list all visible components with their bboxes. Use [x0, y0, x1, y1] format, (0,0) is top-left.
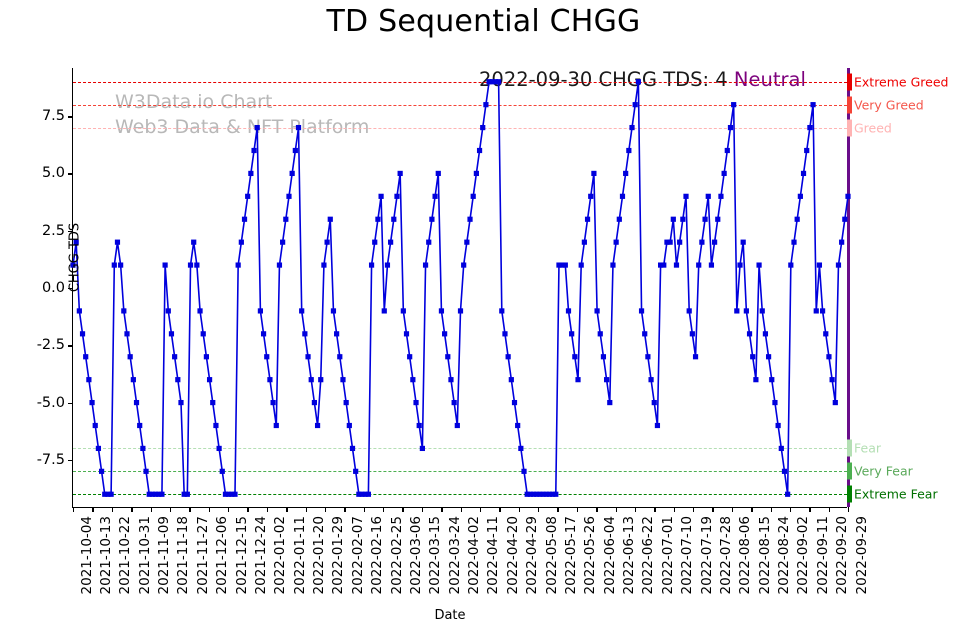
x-tick-label: 2022-04-20: [505, 516, 521, 594]
x-tick-label: 2022-08-06: [737, 516, 753, 594]
series-marker: [671, 217, 676, 222]
x-tick-label: 2021-11-09: [156, 516, 172, 594]
series-marker: [137, 423, 142, 428]
x-tick-mark: [848, 507, 849, 512]
series-marker: [325, 240, 330, 245]
series-marker: [639, 308, 644, 313]
series-marker: [188, 262, 193, 267]
series-marker: [582, 240, 587, 245]
series-marker: [80, 331, 85, 336]
series-marker: [833, 400, 838, 405]
series-marker: [207, 377, 212, 382]
series-marker: [648, 377, 653, 382]
series-marker: [845, 194, 850, 199]
series-marker: [623, 171, 628, 176]
series-marker: [617, 217, 622, 222]
series-marker: [817, 262, 822, 267]
series-marker: [420, 446, 425, 451]
series-marker: [636, 79, 641, 84]
y-tick-label: -5.0: [37, 395, 65, 411]
series-marker: [334, 331, 339, 336]
series-marker: [280, 240, 285, 245]
series-marker: [455, 423, 460, 428]
series-marker: [464, 240, 469, 245]
series-marker: [594, 308, 599, 313]
series-marker: [563, 262, 568, 267]
series-marker: [804, 148, 809, 153]
series-marker: [760, 308, 765, 313]
series-marker: [271, 400, 276, 405]
series-marker: [318, 377, 323, 382]
series-marker: [394, 194, 399, 199]
series-marker: [372, 240, 377, 245]
series-marker: [652, 400, 657, 405]
series-marker: [432, 194, 437, 199]
series-marker: [614, 240, 619, 245]
series-marker: [677, 240, 682, 245]
series-marker: [626, 148, 631, 153]
series-marker: [687, 308, 692, 313]
series-marker: [607, 400, 612, 405]
series-marker: [683, 194, 688, 199]
x-tick-label: 2021-11-18: [175, 516, 191, 594]
series-marker: [178, 400, 183, 405]
series-marker: [245, 194, 250, 199]
x-tick-label: 2021-12-06: [214, 516, 230, 594]
series-marker: [798, 194, 803, 199]
series-marker: [575, 377, 580, 382]
series-marker: [820, 308, 825, 313]
series-marker: [398, 171, 403, 176]
series-marker: [442, 331, 447, 336]
series-marker: [680, 217, 685, 222]
series-marker: [645, 354, 650, 359]
series-marker: [591, 171, 596, 176]
series-marker: [747, 331, 752, 336]
x-tick-label: 2022-02-16: [369, 516, 385, 594]
series-marker: [204, 354, 209, 359]
series-marker: [191, 240, 196, 245]
x-tick-label: 2022-03-15: [427, 516, 443, 594]
threshold-label-extreme-fear: Extreme Fear: [854, 487, 938, 502]
series-marker: [112, 262, 117, 267]
series-marker: [439, 308, 444, 313]
series-marker: [801, 171, 806, 176]
series-marker: [566, 308, 571, 313]
x-tick-label: 2022-06-22: [640, 516, 656, 594]
series-marker: [89, 400, 94, 405]
series-marker: [315, 423, 320, 428]
series-marker: [388, 240, 393, 245]
series-marker: [134, 400, 139, 405]
series-marker: [776, 423, 781, 428]
series-marker: [83, 354, 88, 359]
series-marker: [633, 102, 638, 107]
threshold-label-greed: Greed: [854, 120, 892, 135]
x-tick-label: 2022-08-15: [757, 516, 773, 594]
x-tick-label: 2021-12-15: [234, 516, 250, 594]
series-marker: [331, 308, 336, 313]
x-tick-label: 2021-10-31: [137, 516, 153, 594]
series-marker: [512, 400, 517, 405]
threshold-label-very-greed: Very Greed: [854, 97, 924, 112]
series-marker: [483, 102, 488, 107]
series-marker: [572, 354, 577, 359]
x-tick-label: 2021-10-13: [98, 516, 114, 594]
series-marker: [429, 217, 434, 222]
series-marker: [401, 308, 406, 313]
series-marker: [255, 125, 260, 130]
x-tick-label: 2022-09-29: [854, 516, 870, 594]
x-tick-label: 2022-09-20: [834, 516, 850, 594]
series-marker: [169, 331, 174, 336]
series-marker: [506, 354, 511, 359]
series-marker: [728, 125, 733, 130]
series-marker: [302, 331, 307, 336]
series-marker: [217, 446, 222, 451]
series-marker: [785, 492, 790, 497]
series-marker: [172, 354, 177, 359]
series-marker: [143, 469, 148, 474]
x-tick-label: 2022-01-29: [330, 516, 346, 594]
series-marker: [369, 262, 374, 267]
x-tick-label: 2021-10-22: [117, 516, 133, 594]
series-marker: [159, 492, 164, 497]
series-marker: [496, 79, 501, 84]
series-marker: [604, 377, 609, 382]
series-marker: [375, 217, 380, 222]
x-tick-label: 2022-04-11: [485, 516, 501, 594]
series-marker: [791, 240, 796, 245]
series-marker: [737, 262, 742, 267]
series-marker: [826, 354, 831, 359]
series-marker: [128, 354, 133, 359]
threshold-label-very-fear: Very Fear: [854, 464, 913, 479]
threshold-label-extreme-greed: Extreme Greed: [854, 74, 948, 89]
series-marker: [109, 492, 114, 497]
series-marker: [579, 262, 584, 267]
x-tick-label: 2022-01-02: [272, 516, 288, 594]
series-marker: [131, 377, 136, 382]
series-marker: [598, 331, 603, 336]
series-marker: [166, 308, 171, 313]
series-marker: [175, 377, 180, 382]
series-marker: [477, 148, 482, 153]
series-marker: [210, 400, 215, 405]
series-marker: [309, 377, 314, 382]
x-tick-label: 2022-01-20: [311, 516, 327, 594]
y-tick-label: 7.5: [42, 108, 65, 124]
series-marker: [423, 262, 428, 267]
y-tick-label: 2.5: [42, 223, 65, 239]
series-marker: [194, 262, 199, 267]
series-marker: [756, 262, 761, 267]
series-marker: [467, 217, 472, 222]
series-marker: [391, 217, 396, 222]
series-marker: [232, 492, 237, 497]
series-marker: [629, 125, 634, 130]
series-marker: [620, 194, 625, 199]
series-marker: [795, 217, 800, 222]
series-marker: [753, 377, 758, 382]
x-tick-label: 2022-07-01: [660, 516, 676, 594]
x-tick-label: 2022-09-11: [815, 516, 831, 594]
series-marker: [642, 331, 647, 336]
series-marker: [290, 171, 295, 176]
series-marker: [502, 331, 507, 336]
series-marker: [236, 262, 241, 267]
series-marker: [807, 125, 812, 130]
series-marker: [93, 423, 98, 428]
series-marker: [810, 102, 815, 107]
chart-page: TD Sequential CHGG W3Data.io Chart Web3 …: [0, 0, 967, 633]
series-marker: [750, 354, 755, 359]
series-marker: [293, 148, 298, 153]
series-marker: [458, 308, 463, 313]
series-marker: [267, 377, 272, 382]
series-marker: [814, 308, 819, 313]
series-marker: [261, 331, 266, 336]
series-marker: [569, 331, 574, 336]
series-marker: [518, 446, 523, 451]
x-tick-label: 2022-09-02: [795, 516, 811, 594]
series-marker: [763, 331, 768, 336]
series-marker: [515, 423, 520, 428]
series-marker: [782, 469, 787, 474]
x-tick-label: 2022-03-24: [447, 516, 463, 594]
x-tick-label: 2022-05-08: [544, 516, 560, 594]
series-marker: [601, 354, 606, 359]
series-marker: [185, 492, 190, 497]
series-marker: [283, 217, 288, 222]
x-tick-label: 2022-04-29: [524, 516, 540, 594]
series-marker: [96, 446, 101, 451]
series-marker: [404, 331, 409, 336]
x-tick-label: 2022-05-17: [563, 516, 579, 594]
series-marker: [725, 148, 730, 153]
series-marker: [353, 469, 358, 474]
series-marker: [86, 377, 91, 382]
series-marker: [585, 217, 590, 222]
x-tick-label: 2022-07-28: [718, 516, 734, 594]
series-marker: [712, 240, 717, 245]
series-marker: [264, 354, 269, 359]
series-marker: [448, 377, 453, 382]
series-marker: [258, 308, 263, 313]
x-tick-label: 2021-11-27: [195, 516, 211, 594]
series-marker: [445, 354, 450, 359]
series-marker: [823, 331, 828, 336]
series-marker: [350, 446, 355, 451]
x-tick-label: 2022-01-11: [292, 516, 308, 594]
series-marker: [251, 148, 256, 153]
series-marker: [163, 262, 168, 267]
series-marker: [718, 194, 723, 199]
series-marker: [115, 240, 120, 245]
series-marker: [312, 400, 317, 405]
series-marker: [340, 377, 345, 382]
series-marker: [407, 354, 412, 359]
series-marker: [674, 262, 679, 267]
y-tick-label: 0.0: [42, 280, 65, 296]
series-marker: [553, 492, 558, 497]
series-marker: [509, 377, 514, 382]
series-marker: [696, 262, 701, 267]
series-marker: [417, 423, 422, 428]
series-marker: [242, 217, 247, 222]
series-marker: [588, 194, 593, 199]
series-marker: [788, 262, 793, 267]
series-marker: [378, 194, 383, 199]
series-marker: [474, 171, 479, 176]
series-marker: [779, 446, 784, 451]
x-tick-label: 2022-07-19: [699, 516, 715, 594]
series-marker: [702, 217, 707, 222]
series-marker: [452, 400, 457, 405]
series-marker: [99, 469, 104, 474]
series-marker: [410, 377, 415, 382]
series-marker: [471, 194, 476, 199]
series-marker: [286, 194, 291, 199]
series-marker: [731, 102, 736, 107]
tds-line-series: [73, 68, 848, 508]
series-marker: [836, 262, 841, 267]
series-marker: [140, 446, 145, 451]
x-tick-label: 2022-02-07: [350, 516, 366, 594]
series-marker: [299, 308, 304, 313]
x-tick-label: 2021-12-24: [253, 516, 269, 594]
series-marker: [274, 423, 279, 428]
series-marker: [382, 308, 387, 313]
series-marker: [842, 217, 847, 222]
series-marker: [461, 262, 466, 267]
series-marker: [124, 331, 129, 336]
series-marker: [480, 125, 485, 130]
x-tick-label: 2022-03-06: [408, 516, 424, 594]
series-marker: [769, 377, 774, 382]
series-marker: [337, 354, 342, 359]
series-marker: [830, 377, 835, 382]
threshold-label-fear: Fear: [854, 441, 881, 456]
series-marker: [668, 240, 673, 245]
series-line: [73, 82, 848, 495]
series-marker: [499, 308, 504, 313]
series-marker: [277, 262, 282, 267]
y-tick-label: -2.5: [37, 337, 65, 353]
series-marker: [197, 308, 202, 313]
x-tick-label: 2022-05-26: [582, 516, 598, 594]
series-marker: [248, 171, 253, 176]
series-marker: [213, 423, 218, 428]
series-marker: [741, 240, 746, 245]
plot-area: W3Data.io Chart Web3 Data & NFT Platform…: [72, 68, 847, 508]
y-axis-label: CHGG TDS: [68, 198, 83, 318]
series-marker: [699, 240, 704, 245]
series-marker: [296, 125, 301, 130]
series-marker: [661, 262, 666, 267]
series-marker: [715, 217, 720, 222]
series-marker: [220, 469, 225, 474]
series-marker: [118, 262, 123, 267]
series-marker: [201, 331, 206, 336]
series-marker: [693, 354, 698, 359]
x-tick-label: 2022-06-13: [621, 516, 637, 594]
series-marker: [744, 308, 749, 313]
x-tick-label: 2022-07-10: [679, 516, 695, 594]
series-marker: [734, 308, 739, 313]
y-tick-label: 5.0: [42, 165, 65, 181]
series-marker: [521, 469, 526, 474]
series-marker: [121, 308, 126, 313]
series-marker: [610, 262, 615, 267]
series-marker: [655, 423, 660, 428]
series-marker: [706, 194, 711, 199]
x-tick-label: 2022-06-04: [602, 516, 618, 594]
series-marker: [321, 262, 326, 267]
x-tick-label: 2022-08-24: [776, 516, 792, 594]
x-axis-label: Date: [0, 608, 900, 623]
series-marker: [305, 354, 310, 359]
x-tick-label: 2021-10-04: [79, 516, 95, 594]
series-marker: [709, 262, 714, 267]
x-tick-label: 2022-02-25: [389, 516, 405, 594]
series-marker: [366, 492, 371, 497]
chart-title: TD Sequential CHGG: [0, 4, 967, 39]
series-marker: [239, 240, 244, 245]
series-marker: [385, 262, 390, 267]
y-tick-label: -7.5: [37, 452, 65, 468]
series-marker: [413, 400, 418, 405]
x-tick-label: 2022-04-02: [466, 516, 482, 594]
series-marker: [690, 331, 695, 336]
series-marker: [344, 400, 349, 405]
series-marker: [436, 171, 441, 176]
series-marker: [328, 217, 333, 222]
series-marker: [766, 354, 771, 359]
series-marker: [722, 171, 727, 176]
series-marker: [772, 400, 777, 405]
series-marker: [839, 240, 844, 245]
series-marker: [426, 240, 431, 245]
series-marker: [347, 423, 352, 428]
